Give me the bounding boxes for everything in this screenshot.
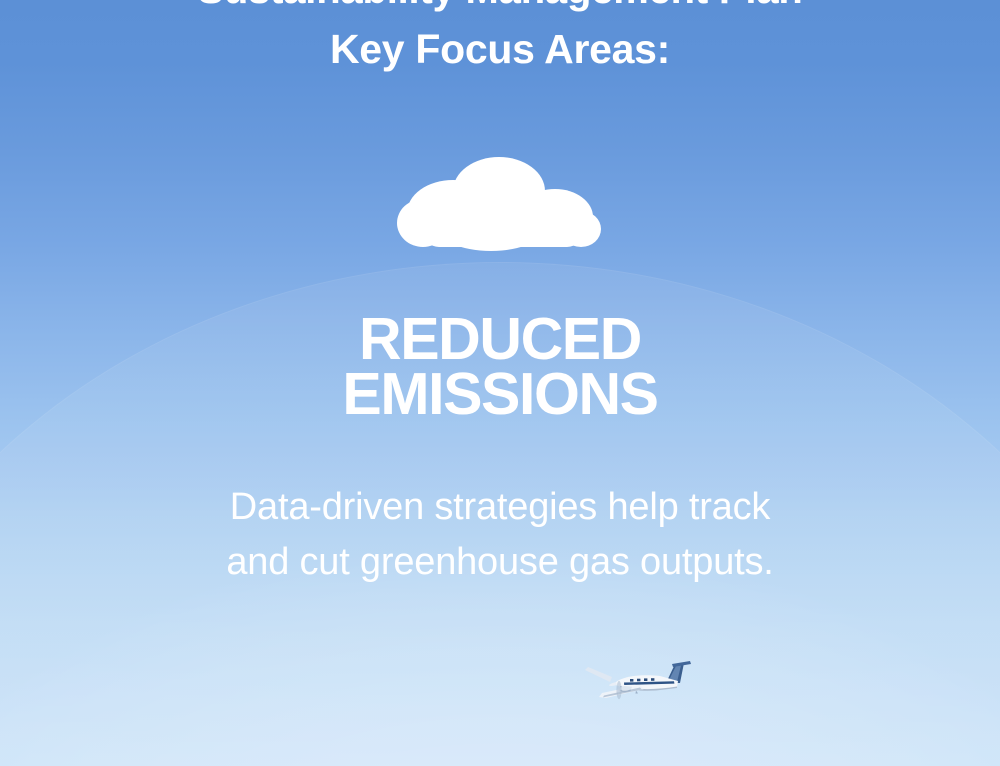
cloud-icon xyxy=(395,155,605,255)
page-title: REDUCED EMISSIONS xyxy=(0,312,1000,423)
title-line-1: REDUCED xyxy=(0,312,1000,367)
subheading-text: Key Focus Areas: xyxy=(0,29,1000,70)
eyebrow-text: Sustainability Management Plan xyxy=(0,0,1000,10)
body-line-1: Data-driven strategies help track xyxy=(150,480,850,535)
eyebrow-clip: Sustainability Management Plan xyxy=(0,0,1000,15)
body-line-2: and cut greenhouse gas outputs. xyxy=(150,535,850,590)
airplane-photo xyxy=(580,655,695,711)
body-copy: Data-driven strategies help track and cu… xyxy=(150,480,850,591)
poster-canvas: Sustainability Management Plan Key Focus… xyxy=(0,0,1000,766)
title-line-2: EMISSIONS xyxy=(0,367,1000,422)
content-layer: Sustainability Management Plan Key Focus… xyxy=(0,0,1000,766)
